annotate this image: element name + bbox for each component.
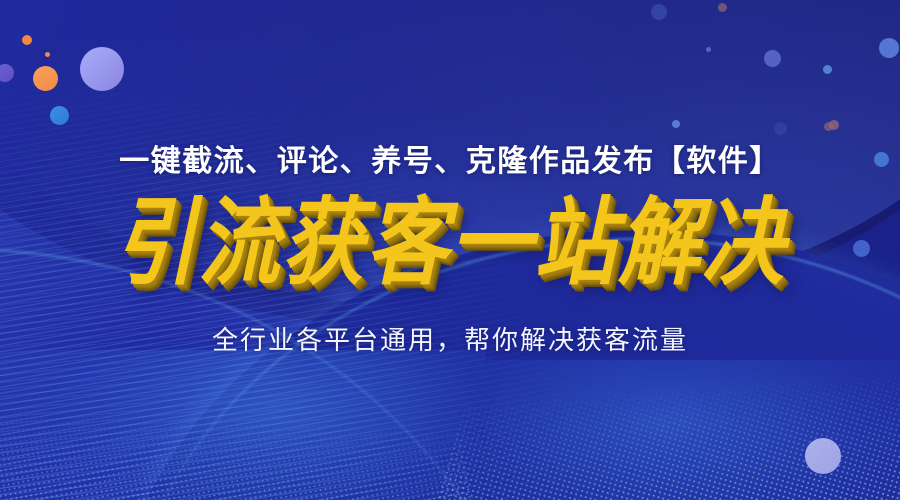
banner-headline: 引流获客一站解决 bbox=[114, 196, 786, 291]
banner-tagline: 全行业各平台通用，帮你解决获客流量 bbox=[212, 327, 688, 353]
promo-banner: 一键截流、评论、养号、克隆作品发布【软件】 引流获客一站解决 全行业各平台通用，… bbox=[0, 0, 900, 500]
banner-subtitle: 一键截流、评论、养号、克隆作品发布【软件】 bbox=[119, 147, 781, 177]
banner-content: 一键截流、评论、养号、克隆作品发布【软件】 引流获客一站解决 全行业各平台通用，… bbox=[0, 0, 900, 500]
